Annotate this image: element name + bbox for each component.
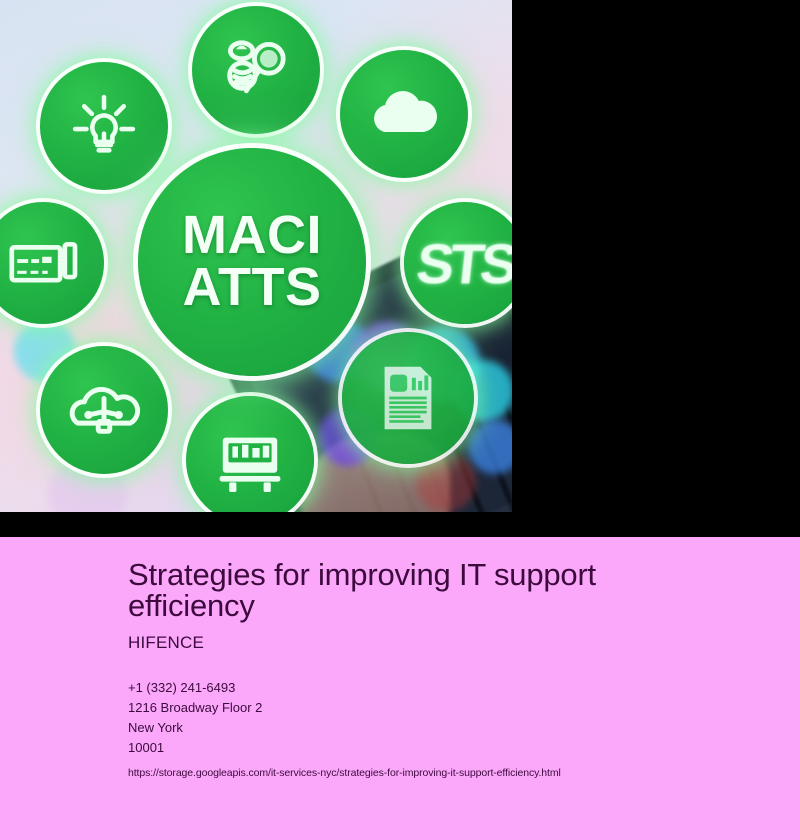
- currency-icon: STS: [413, 231, 512, 296]
- source-url-link[interactable]: https://storage.googleapis.com/it-servic…: [128, 767, 748, 779]
- center-label-line-1: MACI: [182, 210, 322, 262]
- server-icon: [210, 420, 290, 500]
- badge-server-rack: [186, 396, 314, 512]
- badge-cloud-storage: [340, 50, 468, 178]
- info-panel: Strategies for improving IT support effi…: [0, 537, 800, 840]
- page-title: Strategies for improving IT support effi…: [128, 559, 640, 621]
- badge-center-label: MACI ATTS: [138, 148, 366, 376]
- cloud-icon: [363, 73, 445, 155]
- badge-idea-lightbulb: [40, 62, 168, 190]
- cloud-network-icon: [63, 369, 145, 451]
- badge-cloud-network: [40, 346, 168, 474]
- center-label-line-2: ATTS: [183, 262, 322, 314]
- card-icon: [4, 224, 82, 302]
- badge-payment-card: [0, 202, 104, 324]
- info-content: Strategies for improving IT support effi…: [128, 559, 748, 779]
- contact-city: New York: [128, 718, 748, 738]
- contact-street: 1216 Broadway Floor 2: [128, 698, 748, 718]
- brand-name: HIFENCE: [128, 633, 748, 653]
- contact-block: +1 (332) 241-6493 1216 Broadway Floor 2 …: [128, 678, 748, 759]
- badge-report-document: [342, 332, 474, 464]
- hero-image: STS: [0, 0, 512, 512]
- media-band: STS: [0, 0, 800, 537]
- document-icon: [369, 359, 447, 437]
- contact-postal-code: 10001: [128, 738, 748, 758]
- lightbulb-icon: [66, 88, 142, 164]
- badge-search-analysis: [192, 6, 320, 134]
- magnifier-icon: [216, 30, 296, 110]
- contact-phone[interactable]: +1 (332) 241-6493: [128, 678, 748, 698]
